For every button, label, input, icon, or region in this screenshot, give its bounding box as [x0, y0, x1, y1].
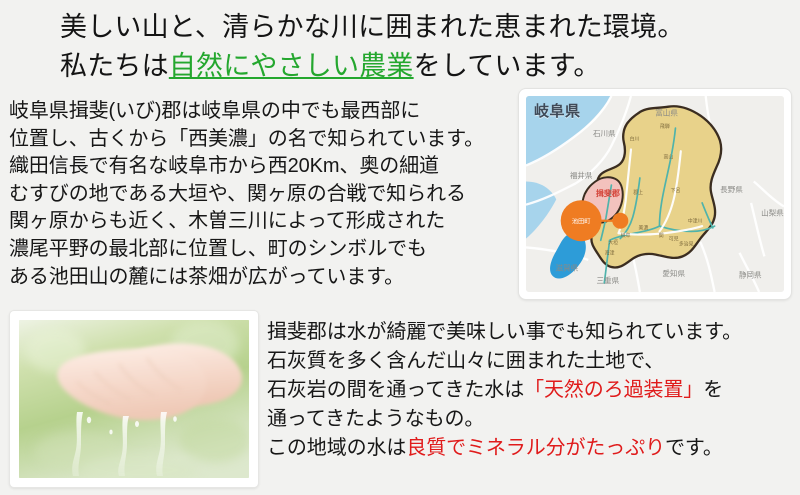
- water-line-3-prefix: 石灰岩の間を通ってきた水は: [267, 379, 524, 401]
- page-headline: 美しい山と、清らかな川に囲まれた恵まれた環境。 私たちは自然にやさしい農業をして…: [60, 8, 780, 86]
- map-title: 岐阜県: [534, 100, 581, 121]
- water-line-1: 揖斐郡は水が綺麗で美味しい事でも知られています。: [267, 318, 797, 347]
- neighbor-label: 静岡県: [739, 270, 762, 280]
- headline-highlight: 自然にやさしい農業: [169, 51, 414, 81]
- intro-line: 関ヶ原からも近く、木曽三川によって形成された: [9, 208, 519, 236]
- gifu-map-panel: 池田町 揖斐郡 富山県 石川県 福井県 長野県 山梨県 滋賀県 三重県 愛知県 …: [519, 89, 791, 299]
- intro-line: 織田信長で有名な岐阜市から西20Km、奥の細道: [9, 153, 519, 181]
- neighbor-label: 富山県: [655, 108, 678, 118]
- neighbor-label: 山梨県: [761, 207, 784, 217]
- neighbor-label: 長野県: [720, 185, 743, 194]
- intro-line: 濃尾平野の最北部に位置し、町のシンボルでも: [9, 236, 519, 264]
- neighbor-label: 滋賀県: [556, 263, 579, 273]
- water-line-2: 石灰質を多く含んだ山々に囲まれた土地で、: [267, 347, 797, 376]
- neighbor-label: 福井県: [570, 170, 593, 180]
- water-paragraph: 揖斐郡は水が綺麗で美味しい事でも知られています。 石灰質を多く含んだ山々に囲まれ…: [267, 318, 797, 463]
- city-label: 下呂: [671, 188, 681, 194]
- ikeda-town-marker-label: 池田町: [572, 217, 591, 225]
- headline-line-2-prefix: 私たちは: [60, 51, 169, 81]
- intro-line: むすびの地である大垣や、関ヶ原の合戦で知られる: [9, 181, 519, 209]
- water-line-5-suffix: です。: [665, 437, 723, 459]
- gifu-map-canvas: 池田町 揖斐郡 富山県 石川県 福井県 長野県 山梨県 滋賀県 三重県 愛知県 …: [526, 96, 784, 292]
- water-line-3: 石灰岩の間を通ってきた水は「天然のろ過装置」を: [267, 376, 797, 405]
- intro-line: 岐阜県揖斐(いび)郡は岐阜県の中でも最西部に: [9, 98, 519, 126]
- water-line-3-suffix: を: [703, 379, 723, 401]
- hands-water-illustration: [19, 320, 249, 478]
- neighbor-label: 愛知県: [662, 268, 685, 278]
- cupped-hands-with-water-photo: [19, 320, 249, 478]
- water-line-5: この地域の水は良質でミネラル分がたっぷりです。: [267, 434, 797, 463]
- water-highlight-filter: 「天然のろ過装置」: [524, 379, 703, 401]
- headline-line-2-suffix: をしています。: [414, 51, 601, 81]
- intro-line: 位置し、古くから「西美濃」の名で知られています。: [9, 126, 519, 154]
- intro-paragraph: 岐阜県揖斐(いび)郡は岐阜県の中でも最西部に 位置し、古くから「西美濃」の名で知…: [9, 98, 519, 291]
- ibi-district-label: 揖斐郡: [596, 188, 620, 198]
- neighbor-label: 三重県: [597, 276, 620, 285]
- water-highlight-mineral: 良質でミネラル分がたっぷり: [406, 437, 665, 459]
- headline-line-2: 私たちは自然にやさしい農業をしています。: [60, 47, 780, 86]
- water-line-5-prefix: この地域の水は: [267, 437, 406, 459]
- headline-line-1: 美しい山と、清らかな川に囲まれた恵まれた環境。: [60, 8, 780, 47]
- intro-line: ある池田山の麓には茶畑が広がっています。: [9, 264, 519, 292]
- ibi-town-marker: [612, 213, 628, 229]
- neighbor-label: 石川県: [593, 129, 616, 138]
- promo-page: 美しい山と、清らかな川に囲まれた恵まれた環境。 私たちは自然にやさしい農業をして…: [0, 0, 800, 495]
- water-line-4: 通ってきたようなもの。: [267, 405, 797, 434]
- water-photo-frame: [10, 311, 258, 487]
- gifu-map-illustration: 池田町 揖斐郡 富山県 石川県 福井県 長野県 山梨県 滋賀県 三重県 愛知県 …: [526, 96, 784, 292]
- city-label: 関: [659, 233, 664, 239]
